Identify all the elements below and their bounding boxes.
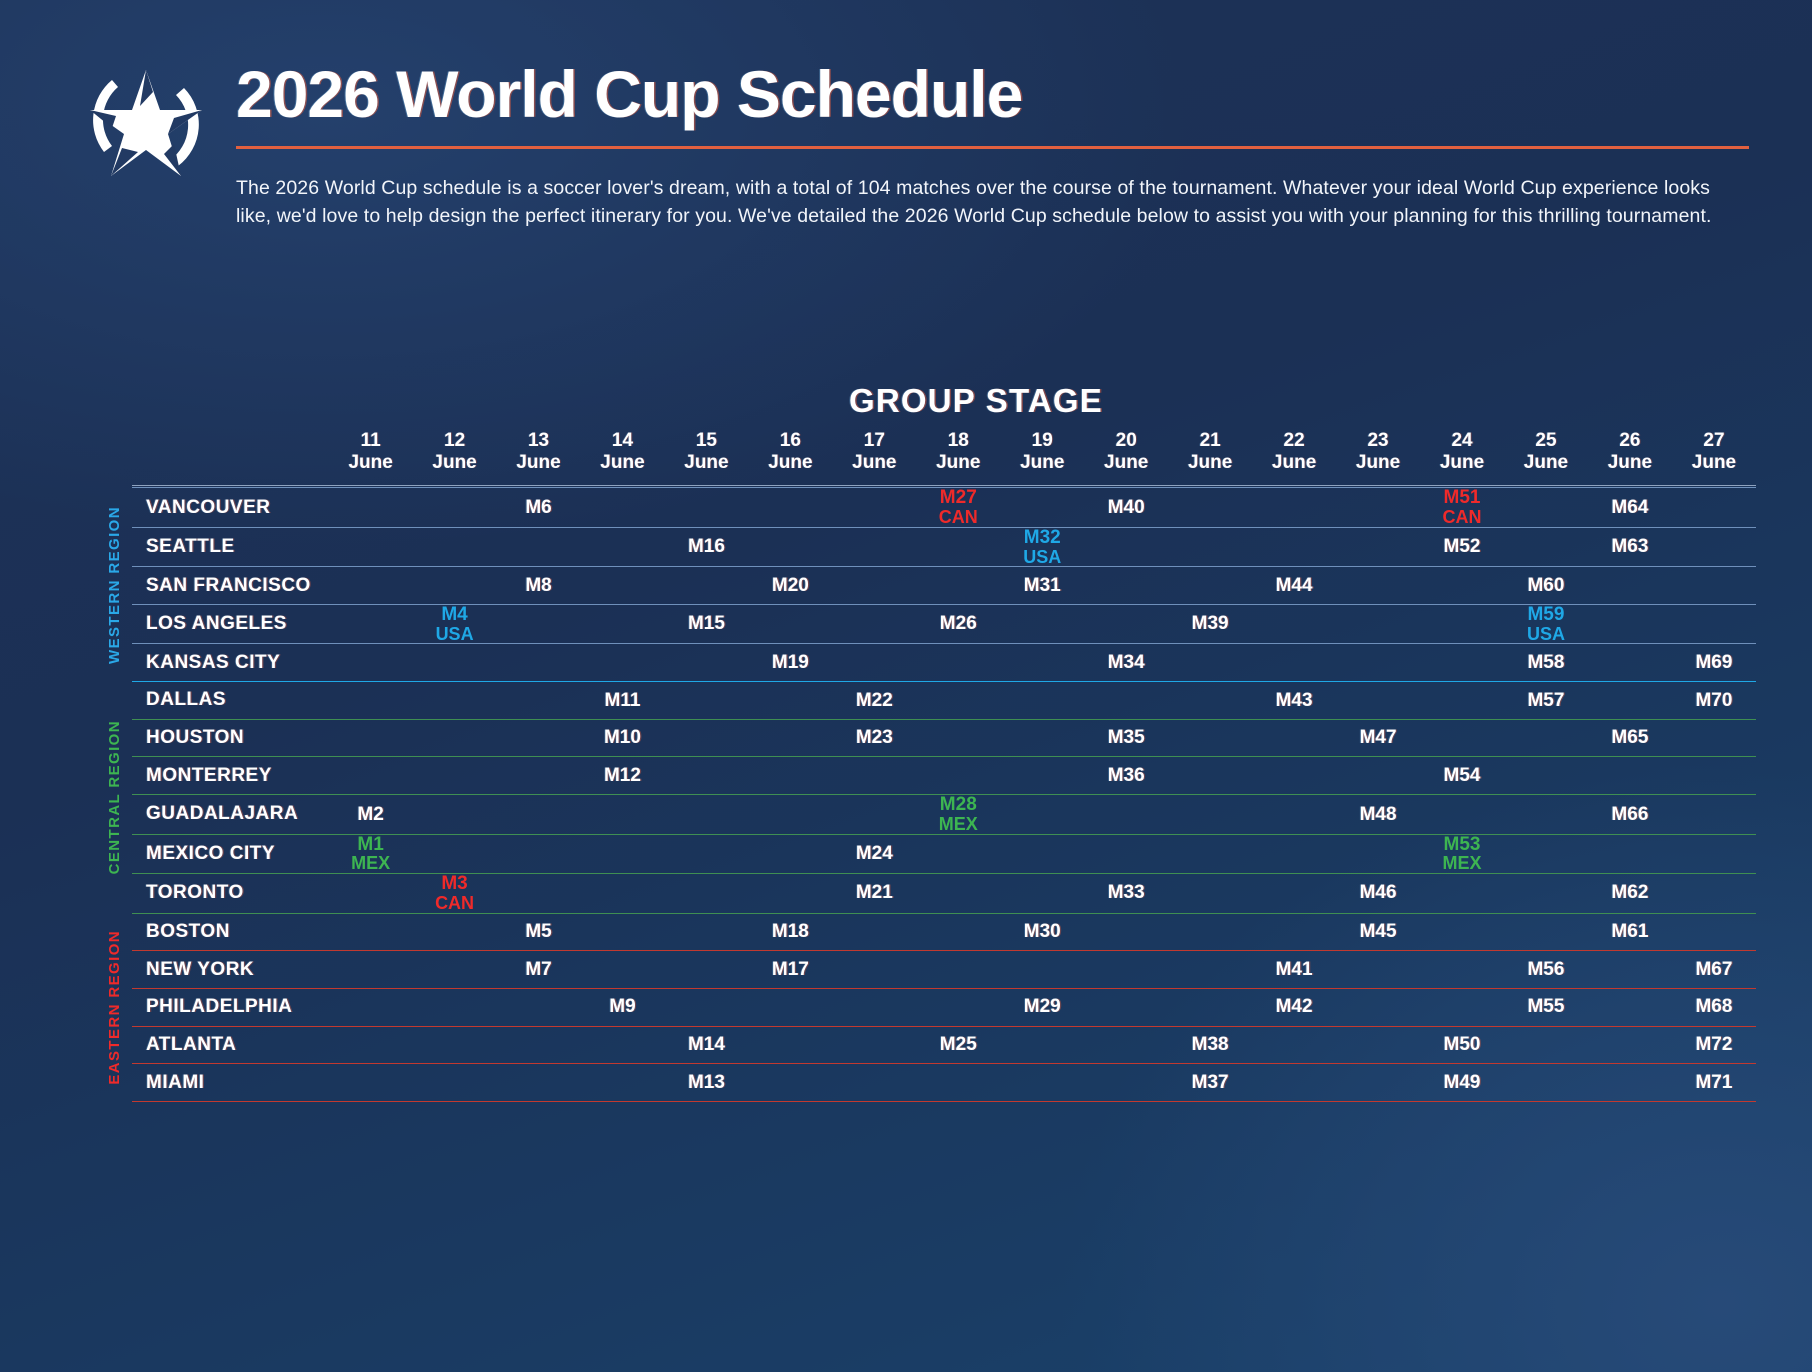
match-cell-m23[interactable]: M23 xyxy=(832,719,916,757)
empty-cell xyxy=(1420,682,1504,720)
match-cell-m17[interactable]: M17 xyxy=(748,951,832,989)
match-cell-m65[interactable]: M65 xyxy=(1588,719,1672,757)
match-entry: M46 xyxy=(1336,883,1420,903)
empty-cell xyxy=(329,644,413,682)
match-cell-m56[interactable]: M56 xyxy=(1504,951,1588,989)
match-cell-m22[interactable]: M22 xyxy=(832,682,916,720)
match-cell-m47[interactable]: M47 xyxy=(1336,719,1420,757)
match-cell-m18[interactable]: M18 xyxy=(748,913,832,951)
page-title: 2026 World Cup Schedule xyxy=(236,58,1792,132)
empty-cell xyxy=(1000,1026,1084,1064)
schedule-table-body: VANCOUVERM6M27CANM40M51CANM64SEATTLEM16M… xyxy=(132,488,1756,1102)
date-header-day: 11 xyxy=(329,430,413,452)
date-header-month: June xyxy=(581,452,665,474)
city-label: SEATTLE xyxy=(132,527,329,566)
empty-cell xyxy=(1504,719,1588,757)
empty-cell xyxy=(413,682,497,720)
match-entry: M24 xyxy=(832,844,916,864)
region-label-central: CENTRAL REGION xyxy=(96,682,132,913)
empty-cell xyxy=(832,527,916,566)
empty-cell xyxy=(664,488,748,527)
date-header-24-june: 24June xyxy=(1420,430,1504,486)
empty-cell xyxy=(832,1026,916,1064)
empty-cell xyxy=(1504,488,1588,527)
match-cell-m39[interactable]: M39 xyxy=(1168,604,1252,643)
match-entry: M5 xyxy=(497,922,581,942)
match-nation: CAN xyxy=(916,508,1000,527)
empty-cell xyxy=(1000,719,1084,757)
match-cell-m55[interactable]: M55 xyxy=(1504,988,1588,1026)
empty-cell xyxy=(1588,604,1672,643)
empty-cell xyxy=(413,988,497,1026)
empty-cell xyxy=(497,604,581,643)
date-header-month: June xyxy=(1336,452,1420,474)
empty-cell xyxy=(1252,527,1336,566)
match-entry: M42 xyxy=(1252,997,1336,1017)
match-code: M56 xyxy=(1504,960,1588,980)
match-cell-m11[interactable]: M11 xyxy=(581,682,665,720)
empty-cell xyxy=(1336,488,1420,527)
date-header-21-june: 21June xyxy=(1168,430,1252,486)
city-label: TORONTO xyxy=(132,874,329,913)
empty-cell xyxy=(1168,644,1252,682)
date-header-row: 11June12June13June14June15June16June17Ju… xyxy=(132,430,1756,486)
match-code: M29 xyxy=(1000,997,1084,1017)
empty-cell xyxy=(497,1026,581,1064)
empty-cell xyxy=(916,874,1000,913)
empty-cell xyxy=(832,988,916,1026)
match-cell-m30[interactable]: M30 xyxy=(1000,913,1084,951)
empty-cell xyxy=(1168,988,1252,1026)
empty-cell xyxy=(581,795,665,834)
match-entry: M71 xyxy=(1672,1073,1756,1093)
match-cell-m60[interactable]: M60 xyxy=(1504,567,1588,605)
empty-cell xyxy=(1252,488,1336,527)
city-label: SAN FRANCISCO xyxy=(132,567,329,605)
empty-cell xyxy=(581,1026,665,1064)
empty-cell xyxy=(1084,951,1168,989)
empty-cell xyxy=(329,719,413,757)
empty-cell xyxy=(1084,913,1168,951)
match-code: M19 xyxy=(748,653,832,673)
match-code: M7 xyxy=(497,960,581,980)
date-header-11-june: 11June xyxy=(329,430,413,486)
match-code: M6 xyxy=(497,498,581,518)
date-header-month: June xyxy=(748,452,832,474)
empty-cell xyxy=(1168,795,1252,834)
match-entry: M43 xyxy=(1252,691,1336,711)
empty-cell xyxy=(1588,951,1672,989)
empty-cell xyxy=(413,795,497,834)
empty-cell xyxy=(664,719,748,757)
match-cell-m72[interactable]: M72 xyxy=(1672,1026,1756,1064)
date-header-17-june: 17June xyxy=(832,430,916,486)
match-cell-m38[interactable]: M38 xyxy=(1168,1026,1252,1064)
empty-cell xyxy=(916,834,1000,873)
date-header-month: June xyxy=(1252,452,1336,474)
date-header-day: 13 xyxy=(497,430,581,452)
empty-cell xyxy=(1672,719,1756,757)
empty-cell xyxy=(916,913,1000,951)
match-cell-m9[interactable]: M9 xyxy=(581,988,665,1026)
empty-cell xyxy=(1252,1064,1336,1102)
empty-cell xyxy=(497,527,581,566)
match-entry: M62 xyxy=(1588,883,1672,903)
empty-cell xyxy=(832,604,916,643)
empty-cell xyxy=(1252,757,1336,795)
empty-cell xyxy=(1420,644,1504,682)
empty-cell xyxy=(1504,834,1588,873)
match-cell-m41[interactable]: M41 xyxy=(1252,951,1336,989)
empty-cell xyxy=(329,1026,413,1064)
schedule-section: WESTERN REGION CENTRAL REGION EASTERN RE… xyxy=(96,430,1756,1102)
empty-cell xyxy=(1420,719,1504,757)
match-entry: M14 xyxy=(664,1035,748,1055)
region-label-western-text: WESTERN REGION xyxy=(106,506,123,664)
match-cell-m6[interactable]: M6 xyxy=(497,488,581,527)
match-cell-m12[interactable]: M12 xyxy=(581,757,665,795)
date-header-19-june: 19June xyxy=(1000,430,1084,486)
match-cell-m44[interactable]: M44 xyxy=(1252,567,1336,605)
city-label: PHILADELPHIA xyxy=(132,988,329,1026)
date-header-day: 22 xyxy=(1252,430,1336,452)
empty-cell xyxy=(664,757,748,795)
star-logo xyxy=(82,66,210,188)
empty-cell xyxy=(1000,682,1084,720)
empty-cell xyxy=(329,527,413,566)
empty-cell xyxy=(664,682,748,720)
match-code: M34 xyxy=(1084,653,1168,673)
match-cell-m3[interactable]: M3CAN xyxy=(413,874,497,913)
empty-cell xyxy=(1168,567,1252,605)
match-code: M52 xyxy=(1420,537,1504,557)
empty-cell xyxy=(1672,567,1756,605)
match-code: M37 xyxy=(1168,1073,1252,1093)
match-cell-m16[interactable]: M16 xyxy=(664,527,748,566)
date-header-month: June xyxy=(1504,452,1588,474)
empty-cell xyxy=(497,795,581,834)
empty-cell xyxy=(1588,1026,1672,1064)
match-code: M9 xyxy=(581,997,665,1017)
empty-cell xyxy=(413,527,497,566)
empty-cell xyxy=(1588,988,1672,1026)
match-entry: M18 xyxy=(748,922,832,942)
date-header-day: 17 xyxy=(832,430,916,452)
match-cell-m68[interactable]: M68 xyxy=(1672,988,1756,1026)
match-cell-m10[interactable]: M10 xyxy=(581,719,665,757)
empty-cell xyxy=(1672,488,1756,527)
match-cell-m13[interactable]: M13 xyxy=(664,1064,748,1102)
match-cell-m31[interactable]: M31 xyxy=(1000,567,1084,605)
match-cell-m61[interactable]: M61 xyxy=(1588,913,1672,951)
date-header-day: 18 xyxy=(916,430,1000,452)
match-code: M48 xyxy=(1336,805,1420,825)
city-label: HOUSTON xyxy=(132,719,329,757)
empty-cell xyxy=(1336,567,1420,605)
date-header-day: 24 xyxy=(1420,430,1504,452)
empty-cell xyxy=(664,988,748,1026)
group-stage-heading: GROUP STAGE xyxy=(0,382,1812,420)
empty-cell xyxy=(1084,795,1168,834)
match-code: M2 xyxy=(329,805,413,825)
match-cell-m36[interactable]: M36 xyxy=(1084,757,1168,795)
region-label-eastern-text: EASTERN REGION xyxy=(106,930,123,1085)
match-entry: M23 xyxy=(832,728,916,748)
date-header-month: June xyxy=(1420,452,1504,474)
empty-cell xyxy=(748,988,832,1026)
empty-cell xyxy=(1336,527,1420,566)
empty-cell xyxy=(329,682,413,720)
match-entry: M66 xyxy=(1588,805,1672,825)
match-entry: M72 xyxy=(1672,1035,1756,1055)
empty-cell xyxy=(497,874,581,913)
match-cell-m20[interactable]: M20 xyxy=(748,567,832,605)
match-cell-m29[interactable]: M29 xyxy=(1000,988,1084,1026)
match-code: M16 xyxy=(664,537,748,557)
match-cell-m32[interactable]: M32USA xyxy=(1000,527,1084,566)
table-row: ATLANTAM14M25M38M50M72 xyxy=(132,1026,1756,1064)
match-cell-m54[interactable]: M54 xyxy=(1420,757,1504,795)
empty-cell xyxy=(1168,874,1252,913)
match-cell-m71[interactable]: M71 xyxy=(1672,1064,1756,1102)
empty-cell xyxy=(1084,1064,1168,1102)
city-label: ATLANTA xyxy=(132,1026,329,1064)
date-header-day: 14 xyxy=(581,430,665,452)
city-label: KANSAS CITY xyxy=(132,644,329,682)
match-code: M8 xyxy=(497,576,581,596)
table-row: MEXICO CITYM1MEXM24M53MEX xyxy=(132,834,1756,873)
match-cell-m14[interactable]: M14 xyxy=(664,1026,748,1064)
match-entry: M63 xyxy=(1588,537,1672,557)
match-code: M69 xyxy=(1672,653,1756,673)
empty-cell xyxy=(1420,604,1504,643)
match-cell-m35[interactable]: M35 xyxy=(1084,719,1168,757)
match-cell-m7[interactable]: M7 xyxy=(497,951,581,989)
match-code: M21 xyxy=(832,883,916,903)
match-cell-m34[interactable]: M34 xyxy=(1084,644,1168,682)
match-cell-m2[interactable]: M2 xyxy=(329,795,413,834)
empty-cell xyxy=(329,951,413,989)
match-code: M25 xyxy=(916,1035,1000,1055)
empty-cell xyxy=(581,488,665,527)
match-cell-m21[interactable]: M21 xyxy=(832,874,916,913)
empty-cell xyxy=(413,1026,497,1064)
match-cell-m25[interactable]: M25 xyxy=(916,1026,1000,1064)
match-entry: M65 xyxy=(1588,728,1672,748)
empty-cell xyxy=(748,719,832,757)
match-cell-m27[interactable]: M27CAN xyxy=(916,488,1000,527)
match-cell-m52[interactable]: M52 xyxy=(1420,527,1504,566)
match-cell-m42[interactable]: M42 xyxy=(1252,988,1336,1026)
table-row: KANSAS CITYM19M34M58M69 xyxy=(132,644,1756,682)
match-entry: M9 xyxy=(581,997,665,1017)
match-nation: USA xyxy=(1000,548,1084,567)
empty-cell xyxy=(329,874,413,913)
empty-cell xyxy=(1168,682,1252,720)
match-entry: M54 xyxy=(1420,766,1504,786)
empty-cell xyxy=(1252,795,1336,834)
empty-cell xyxy=(832,795,916,834)
match-cell-m70[interactable]: M70 xyxy=(1672,682,1756,720)
match-cell-m15[interactable]: M15 xyxy=(664,604,748,643)
match-cell-m64[interactable]: M64 xyxy=(1588,488,1672,527)
empty-cell xyxy=(329,567,413,605)
match-cell-m48[interactable]: M48 xyxy=(1336,795,1420,834)
empty-cell xyxy=(916,644,1000,682)
empty-cell xyxy=(1672,604,1756,643)
match-cell-m5[interactable]: M5 xyxy=(497,913,581,951)
region-label-western: WESTERN REGION xyxy=(96,488,132,682)
match-cell-m69[interactable]: M69 xyxy=(1672,644,1756,682)
empty-cell xyxy=(916,988,1000,1026)
match-cell-m59[interactable]: M59USA xyxy=(1504,604,1588,643)
match-cell-m50[interactable]: M50 xyxy=(1420,1026,1504,1064)
empty-cell xyxy=(1420,913,1504,951)
empty-cell xyxy=(581,913,665,951)
match-code: M41 xyxy=(1252,960,1336,980)
match-cell-m43[interactable]: M43 xyxy=(1252,682,1336,720)
empty-cell xyxy=(748,488,832,527)
empty-cell xyxy=(413,719,497,757)
schedule-table-head: 11June12June13June14June15June16June17Ju… xyxy=(132,430,1756,488)
match-cell-m67[interactable]: M67 xyxy=(1672,951,1756,989)
title-block: 2026 World Cup Schedule The 2026 World C… xyxy=(236,58,1812,230)
table-row: VANCOUVERM6M27CANM40M51CANM64 xyxy=(132,488,1756,527)
empty-cell xyxy=(329,988,413,1026)
match-cell-m33[interactable]: M33 xyxy=(1084,874,1168,913)
empty-cell xyxy=(1252,834,1336,873)
schedule-table: 11June12June13June14June15June16June17Ju… xyxy=(132,430,1756,1102)
empty-cell xyxy=(581,834,665,873)
match-entry: M7 xyxy=(497,960,581,980)
empty-cell xyxy=(1504,795,1588,834)
empty-cell xyxy=(581,604,665,643)
empty-cell xyxy=(1672,757,1756,795)
match-code: M28 xyxy=(916,795,1000,815)
empty-cell xyxy=(916,682,1000,720)
match-cell-m57[interactable]: M57 xyxy=(1504,682,1588,720)
empty-cell xyxy=(1672,795,1756,834)
date-header-month: June xyxy=(664,452,748,474)
match-cell-m58[interactable]: M58 xyxy=(1504,644,1588,682)
match-code: M63 xyxy=(1588,537,1672,557)
date-header-25-june: 25June xyxy=(1504,430,1588,486)
match-cell-m26[interactable]: M26 xyxy=(916,604,1000,643)
date-header-12-june: 12June xyxy=(413,430,497,486)
city-label: MONTERREY xyxy=(132,757,329,795)
empty-cell xyxy=(1336,1064,1420,1102)
empty-cell xyxy=(1504,874,1588,913)
empty-cell xyxy=(1084,988,1168,1026)
match-cell-m45[interactable]: M45 xyxy=(1336,913,1420,951)
match-code: M68 xyxy=(1672,997,1756,1017)
date-header-26-june: 26June xyxy=(1588,430,1672,486)
empty-cell xyxy=(329,1064,413,1102)
match-code: M23 xyxy=(832,728,916,748)
empty-cell xyxy=(497,719,581,757)
empty-cell xyxy=(748,1064,832,1102)
match-cell-m62[interactable]: M62 xyxy=(1588,874,1672,913)
match-cell-m51[interactable]: M51CAN xyxy=(1420,488,1504,527)
empty-cell xyxy=(748,757,832,795)
empty-cell xyxy=(497,1064,581,1102)
empty-cell xyxy=(832,644,916,682)
match-entry: M27CAN xyxy=(916,488,1000,526)
match-cell-m28[interactable]: M28MEX xyxy=(916,795,1000,834)
empty-cell xyxy=(748,1026,832,1064)
match-cell-m53[interactable]: M53MEX xyxy=(1420,834,1504,873)
match-cell-m4[interactable]: M4USA xyxy=(413,604,497,643)
empty-cell xyxy=(1420,567,1504,605)
match-code: M72 xyxy=(1672,1035,1756,1055)
empty-cell xyxy=(1420,874,1504,913)
match-cell-m19[interactable]: M19 xyxy=(748,644,832,682)
table-row: MONTERREYM12M36M54 xyxy=(132,757,1756,795)
match-entry: M29 xyxy=(1000,997,1084,1017)
match-cell-m49[interactable]: M49 xyxy=(1420,1064,1504,1102)
match-entry: M31 xyxy=(1000,576,1084,596)
empty-cell xyxy=(497,988,581,1026)
empty-cell xyxy=(413,757,497,795)
date-header-day: 19 xyxy=(1000,430,1084,452)
match-entry: M20 xyxy=(748,576,832,596)
match-cell-m24[interactable]: M24 xyxy=(832,834,916,873)
match-entry: M17 xyxy=(748,960,832,980)
match-code: M27 xyxy=(916,488,1000,508)
empty-cell xyxy=(1252,1026,1336,1064)
empty-cell xyxy=(748,795,832,834)
match-nation: USA xyxy=(1504,625,1588,644)
match-cell-m37[interactable]: M37 xyxy=(1168,1064,1252,1102)
date-header-13-june: 13June xyxy=(497,430,581,486)
empty-cell xyxy=(581,951,665,989)
date-header-23-june: 23June xyxy=(1336,430,1420,486)
title-divider xyxy=(236,146,1749,149)
match-cell-m40[interactable]: M40 xyxy=(1084,488,1168,527)
date-header-month: June xyxy=(1084,452,1168,474)
match-code: M10 xyxy=(581,728,665,748)
match-entry: M16 xyxy=(664,537,748,557)
empty-cell xyxy=(1000,951,1084,989)
match-cell-m8[interactable]: M8 xyxy=(497,567,581,605)
match-code: M33 xyxy=(1084,883,1168,903)
date-header-month: June xyxy=(497,452,581,474)
empty-cell xyxy=(413,644,497,682)
match-cell-m46[interactable]: M46 xyxy=(1336,874,1420,913)
match-entry: M60 xyxy=(1504,576,1588,596)
date-header-month: June xyxy=(1672,452,1756,474)
empty-cell xyxy=(832,757,916,795)
empty-cell xyxy=(581,567,665,605)
match-entry: M33 xyxy=(1084,883,1168,903)
empty-cell xyxy=(664,567,748,605)
match-entry: M67 xyxy=(1672,960,1756,980)
match-entry: M25 xyxy=(916,1035,1000,1055)
match-code: M58 xyxy=(1504,653,1588,673)
match-nation: CAN xyxy=(1420,508,1504,527)
match-code: M59 xyxy=(1504,605,1588,625)
match-nation: USA xyxy=(413,625,497,644)
match-entry: M59USA xyxy=(1504,605,1588,643)
empty-cell xyxy=(581,874,665,913)
match-cell-m63[interactable]: M63 xyxy=(1588,527,1672,566)
match-cell-m66[interactable]: M66 xyxy=(1588,795,1672,834)
match-entry: M35 xyxy=(1084,728,1168,748)
match-entry: M55 xyxy=(1504,997,1588,1017)
date-header-20-june: 20June xyxy=(1084,430,1168,486)
empty-cell xyxy=(748,874,832,913)
match-cell-m1[interactable]: M1MEX xyxy=(329,834,413,873)
